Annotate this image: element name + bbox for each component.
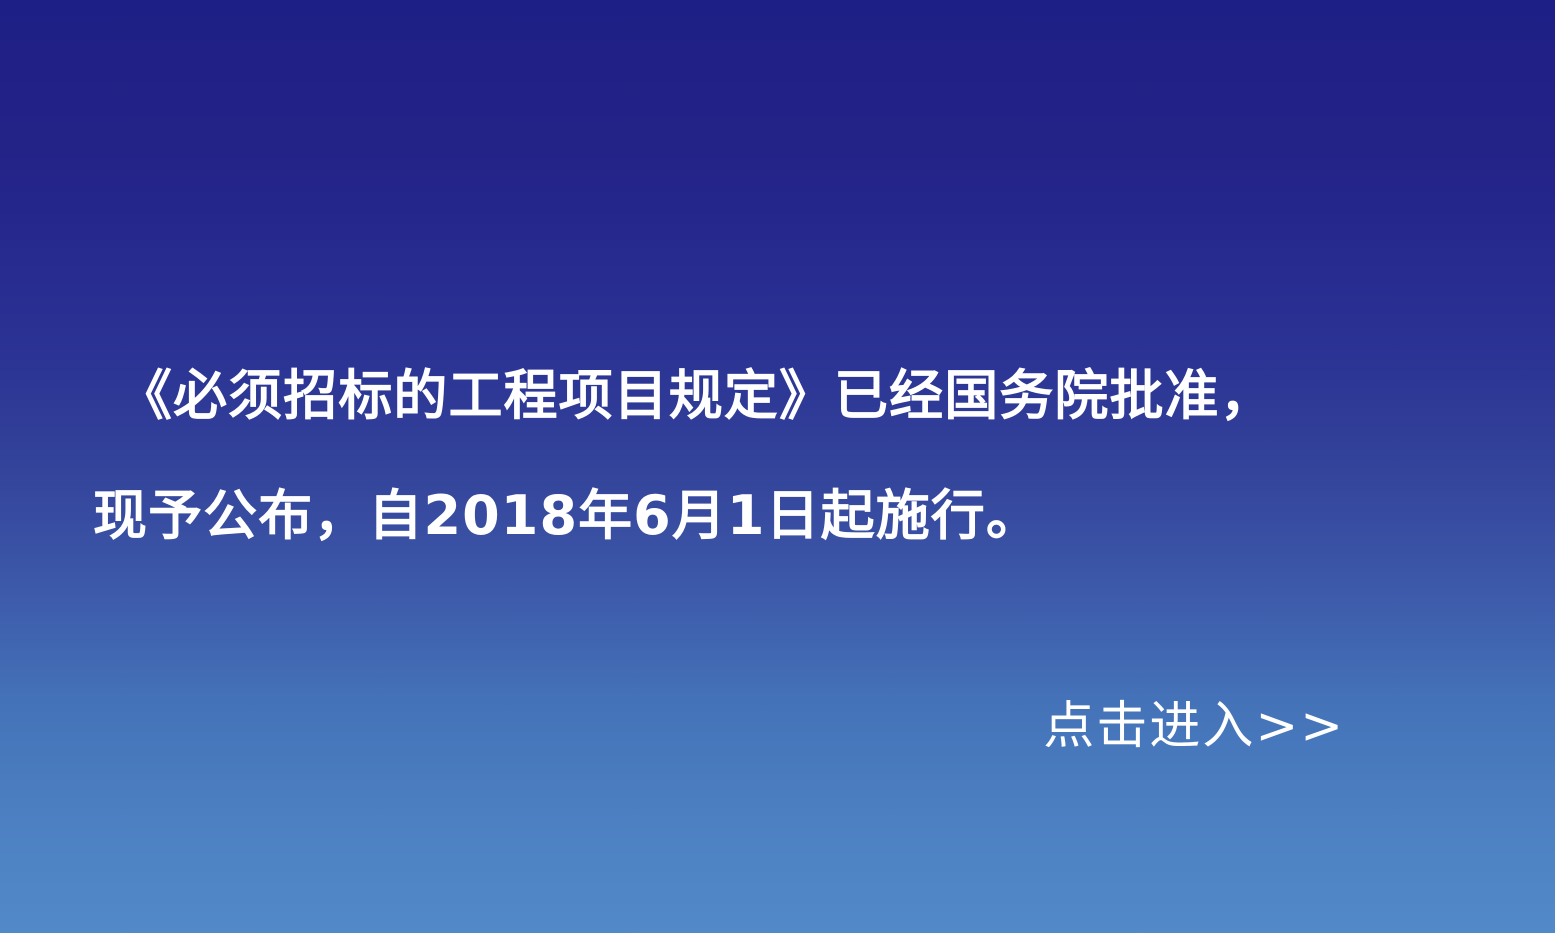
announcement-line-1: 《必须招标的工程项目规定》已经国务院批准， xyxy=(70,336,1485,456)
enter-link[interactable]: 点击进入>> xyxy=(1043,688,1345,766)
announcement-text-block: 《必须招标的工程项目规定》已经国务院批准， 现予公布，自2018年6月1日起施行… xyxy=(0,336,1555,576)
announcement-line-2: 现予公布，自2018年6月1日起施行。 xyxy=(70,456,1485,576)
cta-row: 点击进入>> xyxy=(0,688,1555,766)
announcement-banner: 《必须招标的工程项目规定》已经国务院批准， 现予公布，自2018年6月1日起施行… xyxy=(0,0,1555,933)
